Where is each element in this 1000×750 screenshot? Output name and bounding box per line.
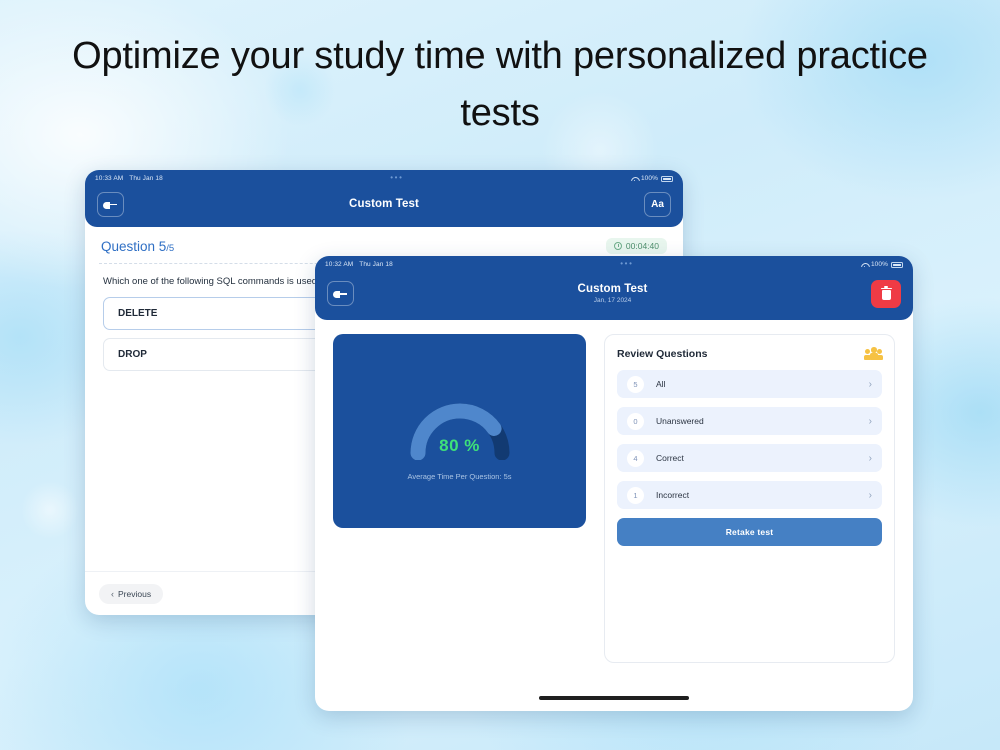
review-label: Unanswered	[656, 416, 869, 426]
review-label: Correct	[656, 453, 869, 463]
status-time: 10:33 AM	[95, 175, 123, 182]
timer-value: 00:04:40	[626, 241, 659, 251]
results-body: 80 % Average Time Per Question: 5s Revie…	[315, 320, 913, 711]
back-button[interactable]	[97, 192, 124, 217]
previous-button-label: Previous	[118, 589, 151, 599]
status-battery-percent: 100%	[641, 175, 658, 182]
chevron-right-icon: ›	[869, 379, 872, 390]
results-tablet: 10:32 AM Thu Jan 18 ••• 100% Custom Test…	[315, 256, 913, 711]
battery-icon	[891, 262, 903, 268]
quiz-title: Custom Test	[124, 198, 644, 210]
delete-test-button[interactable]	[871, 280, 901, 308]
slide-canvas: Optimize your study time with personaliz…	[0, 0, 1000, 750]
question-counter: Question 5/5	[101, 239, 174, 254]
trash-icon	[881, 287, 892, 300]
review-count: 1	[627, 487, 644, 504]
chevron-right-icon: ›	[869, 490, 872, 501]
score-gauge: 80 %	[405, 396, 515, 460]
previous-button[interactable]: ‹ Previous	[99, 584, 163, 604]
question-counter-current: Question 5	[101, 239, 166, 254]
page-title: Optimize your study time with personaliz…	[50, 28, 950, 142]
review-count: 4	[627, 450, 644, 467]
review-count: 0	[627, 413, 644, 430]
back-button[interactable]	[327, 281, 354, 306]
status-time: 10:32 AM	[325, 261, 353, 268]
quiz-title-wrap: Custom Test	[124, 198, 644, 210]
review-header: Review Questions	[617, 347, 882, 360]
wifi-icon	[861, 262, 868, 268]
question-counter-total: /5	[166, 243, 174, 254]
multitask-handle[interactable]: •••	[163, 176, 631, 181]
status-battery-percent: 100%	[871, 261, 888, 268]
results-navbar: Custom Test Jan, 17 2024	[315, 270, 913, 317]
chevron-right-icon: ›	[869, 416, 872, 427]
battery-icon	[661, 176, 673, 182]
status-date: Thu Jan 18	[359, 261, 393, 268]
review-row-incorrect[interactable]: 1 Incorrect ›	[617, 481, 882, 509]
results-tablet-header: 10:32 AM Thu Jan 18 ••• 100% Custom Test…	[315, 256, 913, 320]
chevron-left-icon: ‹	[111, 589, 114, 599]
score-percent: 80 %	[405, 436, 515, 456]
clock-icon	[614, 242, 622, 250]
review-title: Review Questions	[617, 348, 707, 360]
review-label: All	[656, 379, 869, 389]
results-title-wrap: Custom Test Jan, 17 2024	[354, 283, 871, 304]
review-count: 5	[627, 376, 644, 393]
review-questions-card: Review Questions 5 All ›	[604, 334, 895, 663]
arrow-left-icon	[103, 200, 118, 209]
average-time-label: Average Time Per Question: 5s	[407, 472, 511, 481]
status-date: Thu Jan 18	[129, 175, 163, 182]
arrow-left-icon	[333, 289, 348, 298]
review-rows-list: 5 All › 0 Unanswered › 4 Correct ›	[617, 370, 882, 509]
multitask-handle[interactable]: •••	[393, 262, 861, 267]
results-date: Jan, 17 2024	[354, 297, 871, 304]
review-row-unanswered[interactable]: 0 Unanswered ›	[617, 407, 882, 435]
home-indicator	[539, 696, 689, 700]
review-row-all[interactable]: 5 All ›	[617, 370, 882, 398]
quiz-navbar: Custom Test Aa	[85, 184, 683, 224]
results-status-bar: 10:32 AM Thu Jan 18 ••• 100%	[315, 256, 913, 270]
font-size-button[interactable]: Aa	[644, 192, 671, 217]
wifi-icon	[631, 176, 638, 182]
timer-badge: 00:04:40	[606, 238, 667, 254]
retake-test-button[interactable]: Retake test	[617, 518, 882, 546]
quiz-status-bar: 10:33 AM Thu Jan 18 ••• 100%	[85, 170, 683, 184]
chevron-right-icon: ›	[869, 453, 872, 464]
score-gauge-card: 80 % Average Time Per Question: 5s	[333, 334, 586, 528]
people-group-icon	[865, 347, 882, 360]
quiz-tablet-header: 10:33 AM Thu Jan 18 ••• 100% Custom Test…	[85, 170, 683, 227]
review-row-correct[interactable]: 4 Correct ›	[617, 444, 882, 472]
results-title: Custom Test	[354, 283, 871, 295]
review-label: Incorrect	[656, 490, 869, 500]
